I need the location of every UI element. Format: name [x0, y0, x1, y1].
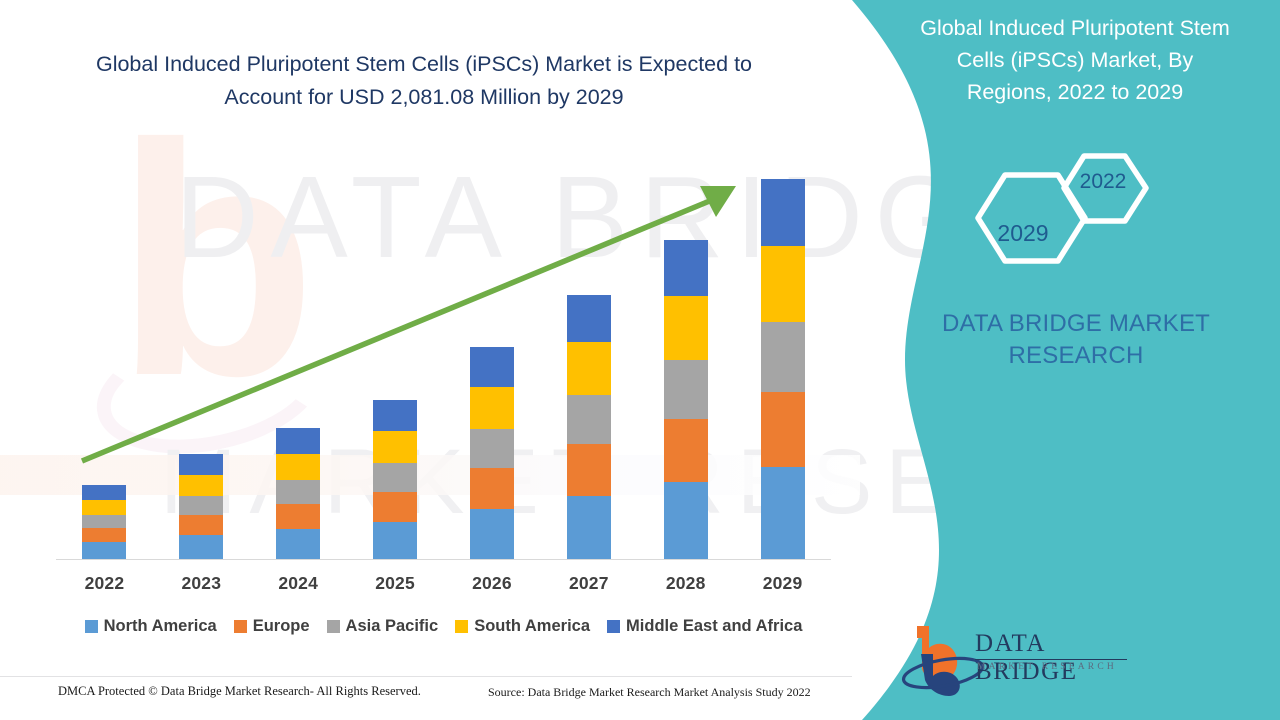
infographic-root: b DATA BRIDGE MARKET RESEARCH Global Ind… — [0, 0, 1280, 720]
logo-mark-icon — [895, 618, 985, 698]
hexagon-shapes-icon — [960, 140, 1220, 290]
x-axis-label-2029: 2029 — [734, 573, 831, 594]
legend-item[interactable]: North America — [85, 617, 217, 636]
legend-item[interactable]: Europe — [234, 617, 310, 636]
legend-label: Middle East and Africa — [626, 617, 802, 636]
x-axis-label-2027: 2027 — [540, 573, 637, 594]
legend-item[interactable]: Asia Pacific — [327, 617, 439, 636]
legend-swatch-icon — [607, 620, 620, 633]
x-axis-label-2026: 2026 — [444, 573, 541, 594]
legend-swatch-icon — [327, 620, 340, 633]
panel-content: Global Induced Pluripotent Stem Cells (i… — [920, 0, 1280, 720]
x-axis-label-2024: 2024 — [250, 573, 347, 594]
hex-label-2022: 2022 — [1063, 170, 1143, 194]
x-axis-label-2028: 2028 — [637, 573, 734, 594]
panel-title: Global Induced Pluripotent Stem Cells (i… — [920, 12, 1230, 108]
footer-copyright: DMCA Protected © Data Bridge Market Rese… — [58, 684, 421, 699]
footer-source: Source: Data Bridge Market Research Mark… — [488, 685, 811, 700]
legend-swatch-icon — [85, 620, 98, 633]
x-axis-label-2025: 2025 — [347, 573, 444, 594]
logo-wordmark: DATA BRIDGE — [975, 630, 1145, 686]
chart-legend: North AmericaEuropeAsia PacificSouth Ame… — [56, 617, 831, 636]
footer-divider — [0, 676, 852, 677]
brand-name: DATA BRIDGE MARKET RESEARCH — [920, 308, 1232, 372]
legend-item[interactable]: Middle East and Africa — [607, 617, 802, 636]
logo-tagline: MARKET RESEARCH — [977, 662, 1117, 672]
hex-label-2029: 2029 — [978, 220, 1068, 247]
legend-swatch-icon — [455, 620, 468, 633]
legend-label: South America — [474, 617, 590, 636]
legend-label: Asia Pacific — [346, 617, 439, 636]
legend-swatch-icon — [234, 620, 247, 633]
legend-item[interactable]: South America — [455, 617, 590, 636]
x-axis-label-2022: 2022 — [56, 573, 153, 594]
legend-label: Europe — [253, 617, 310, 636]
data-bridge-logo: DATA BRIDGE MARKET RESEARCH — [895, 618, 1145, 698]
x-axis-labels: 20222023202420252026202720282029 — [56, 573, 831, 594]
logo-divider — [975, 659, 1127, 660]
legend-label: North America — [104, 617, 217, 636]
x-axis-label-2023: 2023 — [153, 573, 250, 594]
hexagon-badges — [960, 140, 1220, 290]
